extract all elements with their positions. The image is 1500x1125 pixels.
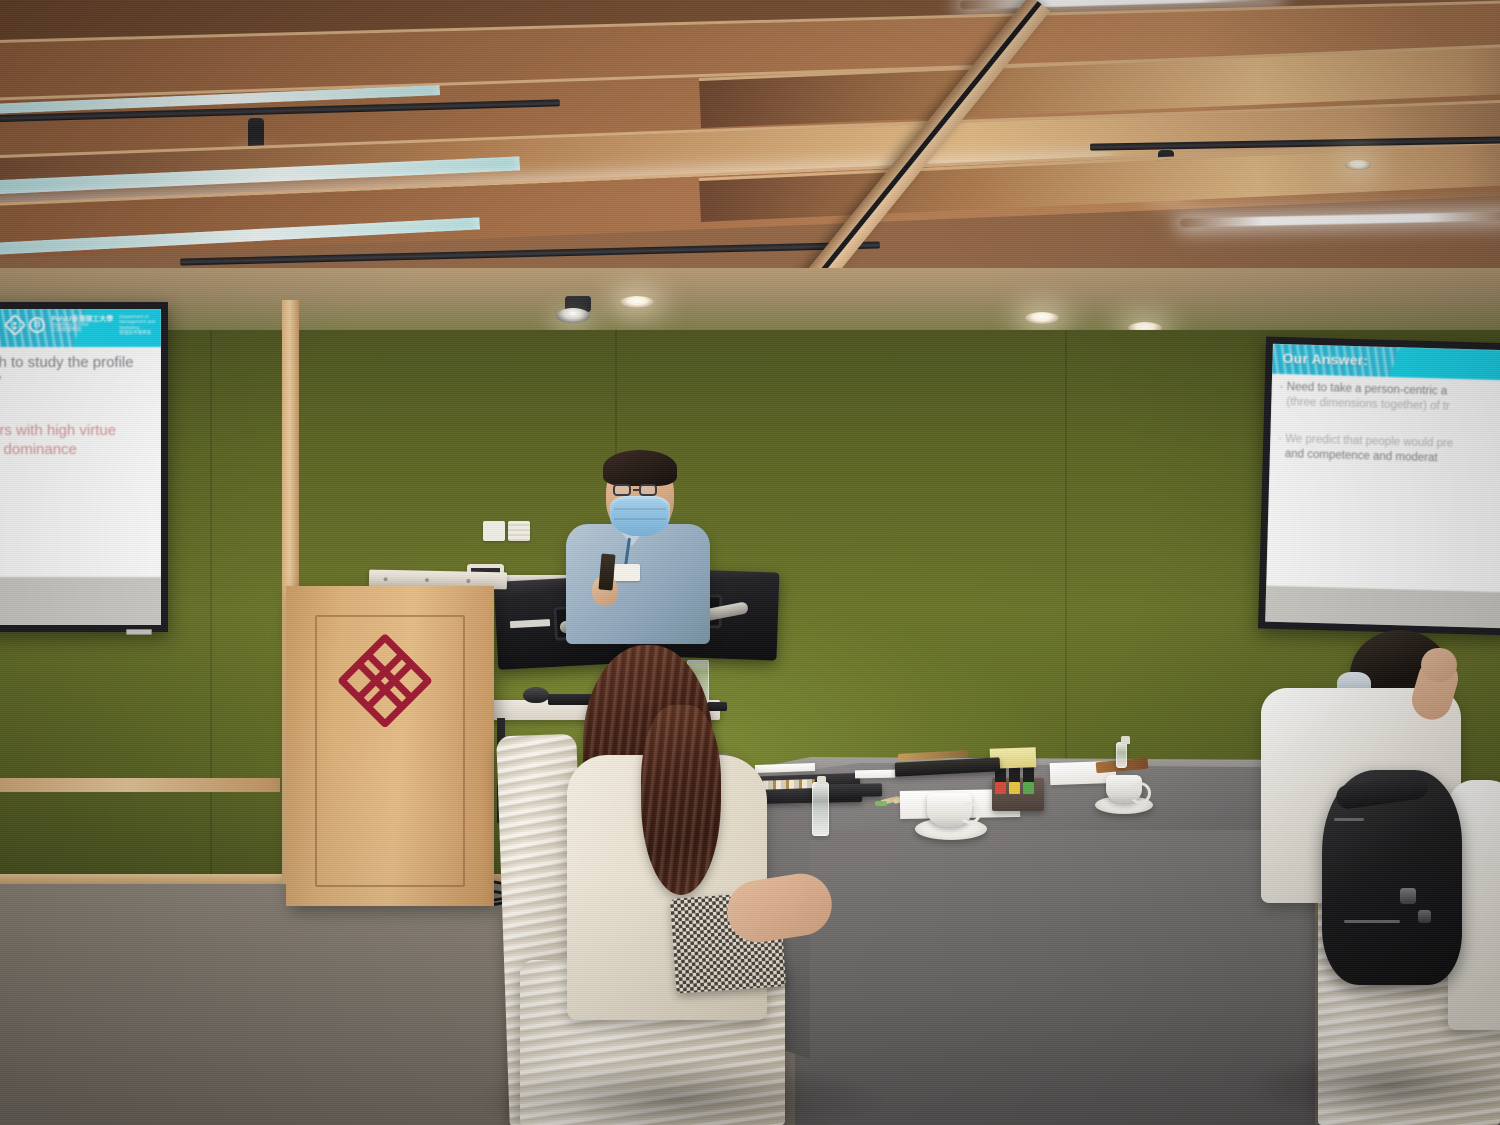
teacup-front [927,793,972,827]
slide-title: Our Answer: [1282,350,1368,368]
slide-bullet: r" [0,372,161,391]
ceiling-projector [565,296,591,312]
slide-bullet: h dominance [0,440,161,459]
wall-switch-panel[interactable] [508,521,530,541]
attendee-hand [1421,648,1457,682]
recessed-downlight [620,296,654,308]
name-badge [614,564,640,581]
recessed-downlight [1025,312,1059,324]
small-bottle[interactable] [1116,742,1127,768]
seminar-room-photo: B PolyU香港理工大學 Business School 工商管理學院 Dep… [0,0,1500,1125]
polyu-diamond-icon [4,313,27,336]
surgical-mask [610,496,670,536]
attendee-front-left [545,645,795,1045]
slide-bullet: ch to study the profile [0,353,161,372]
recessed-downlight [1345,160,1371,170]
polyu-business-school-logo: B PolyU香港理工大學 Business School 工商管理學院 Dep… [7,314,155,335]
right-slide: Our Answer: · Need to take a person-cent… [1265,344,1500,629]
fluorescent-strip-light [1180,212,1500,228]
right-projection-screen: Our Answer: · Need to take a person-cent… [1258,337,1500,636]
green-marker[interactable] [875,801,887,806]
presenter-hair [603,450,677,486]
left-projection-screen: B PolyU香港理工大學 Business School 工商管理學院 Dep… [0,302,168,632]
hand-sanitizer-bottle[interactable] [812,782,829,836]
brand-dept-cn: 管理及市場學系 [119,330,155,335]
presenter [560,440,730,640]
backpack-buckle [1400,888,1416,904]
left-slide: B PolyU香港理工大學 Business School 工商管理學院 Dep… [0,309,161,625]
marker-holder-box[interactable] [992,778,1044,811]
wood-slat-ceiling [0,0,1500,345]
brand-dept-line2: Management and [119,319,155,324]
slide-bullet: ers with high virtue [0,421,161,440]
brand-school-line3: 工商管理學院 [51,328,113,333]
wall-switch-plate[interactable] [483,521,505,541]
wood-wall-rail-left [0,778,280,792]
teacup-right [1106,775,1142,803]
screen-bottom-tab [126,629,152,635]
attendee-hair-back [641,705,721,895]
table-skirt [795,830,1315,1125]
b-circle-icon: B [29,317,45,333]
backpack[interactable] [1322,770,1462,985]
paper-sheet[interactable] [855,770,895,779]
podium-lectern [286,586,494,906]
backpack-buckle [1418,910,1431,923]
